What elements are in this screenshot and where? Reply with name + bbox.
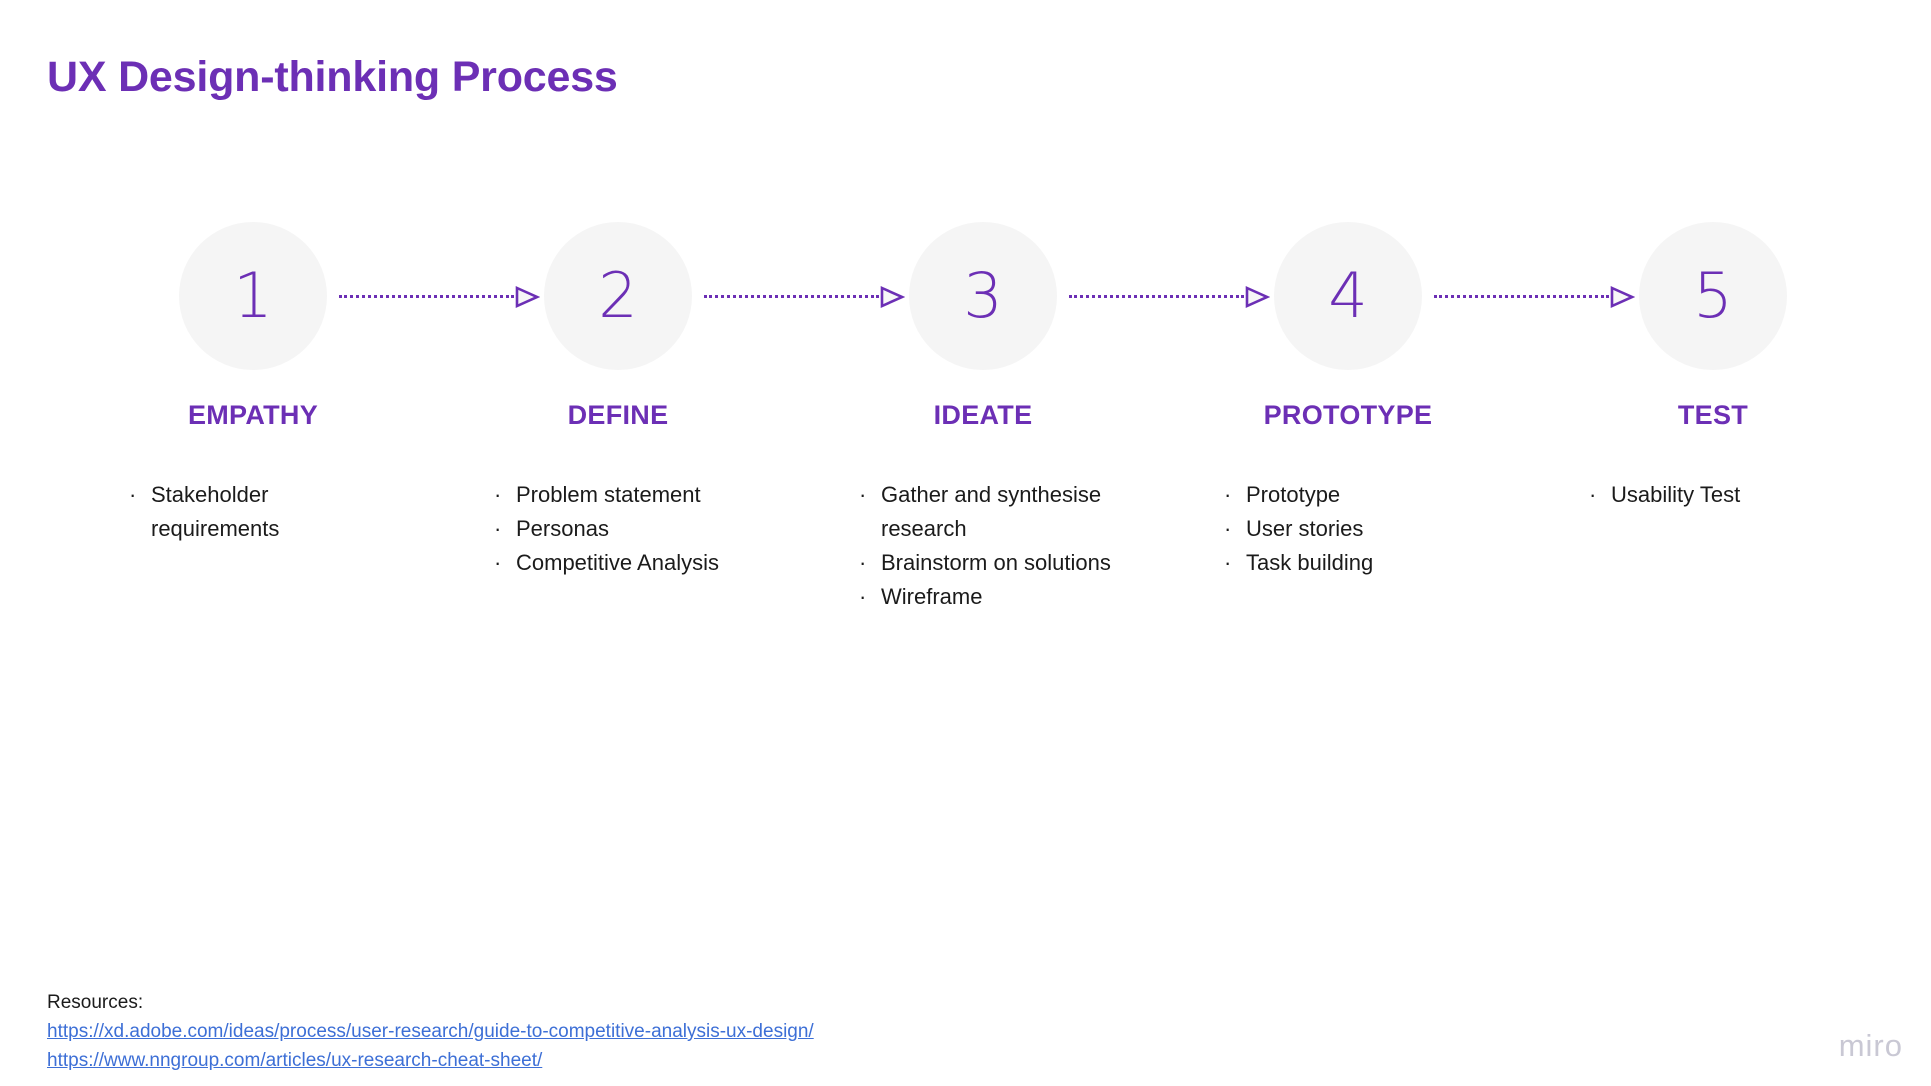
list-item: ·Stakeholder requirements xyxy=(129,478,389,546)
miro-watermark: miro xyxy=(1839,1028,1903,1064)
list-item-label: Prototype xyxy=(1246,478,1484,512)
step-circle-bg: 1 xyxy=(179,222,327,370)
step-label-define: DEFINE xyxy=(468,400,768,431)
bullet-list-test: ·Usability Test xyxy=(1589,478,1849,512)
step-circle-bg: 3 xyxy=(909,222,1057,370)
resources-block: Resources: https://xd.adobe.com/ideas/pr… xyxy=(47,988,814,1075)
resource-link-nngroup[interactable]: https://www.nngroup.com/articles/ux-rese… xyxy=(47,1046,814,1075)
step-circle-2[interactable]: 2 xyxy=(544,222,692,370)
step-number: 1 xyxy=(233,265,272,327)
connector-4-to-5 xyxy=(1434,286,1635,308)
list-item: ·Gather and synthesise research xyxy=(859,478,1119,546)
bullet-dot-icon: · xyxy=(494,478,516,512)
list-item: ·Brainstorm on solutions xyxy=(859,546,1119,580)
arrow-right-icon xyxy=(1609,286,1635,308)
bullet-dot-icon: · xyxy=(1224,478,1246,512)
arrow-right-icon xyxy=(514,286,540,308)
list-item: ·Task building xyxy=(1224,546,1484,580)
bullet-dot-icon: · xyxy=(494,512,516,546)
step-circle-bg: 2 xyxy=(544,222,692,370)
bullet-dot-icon: · xyxy=(494,546,516,580)
step-label-prototype: PROTOTYPE xyxy=(1198,400,1498,431)
step-circle-bg: 4 xyxy=(1274,222,1422,370)
list-item-label: Personas xyxy=(516,512,754,546)
list-item: ·Wireframe xyxy=(859,580,1119,614)
bullet-dot-icon: · xyxy=(1224,546,1246,580)
connector-3-to-4 xyxy=(1069,286,1270,308)
step-circle-4[interactable]: 4 xyxy=(1274,222,1422,370)
bullet-dot-icon: · xyxy=(859,546,881,580)
bullet-dot-icon: · xyxy=(859,580,881,614)
list-item-label: Wireframe xyxy=(881,580,1119,614)
step-label-empathy: EMPATHY xyxy=(103,400,403,431)
bullet-dot-icon: · xyxy=(1589,478,1611,512)
step-circle-5[interactable]: 5 xyxy=(1639,222,1787,370)
list-item: ·Problem statement xyxy=(494,478,754,512)
step-label-test: TEST xyxy=(1563,400,1863,431)
bullet-dot-icon: · xyxy=(859,478,881,512)
list-item: ·Prototype xyxy=(1224,478,1484,512)
step-circle-bg: 5 xyxy=(1639,222,1787,370)
dotted-line xyxy=(704,295,879,301)
dotted-line xyxy=(1434,295,1609,301)
page-title: UX Design-thinking Process xyxy=(47,53,618,102)
list-item-label: Gather and synthesise research xyxy=(881,478,1119,546)
arrow-right-icon xyxy=(1244,286,1270,308)
list-item: ·Personas xyxy=(494,512,754,546)
connector-1-to-2 xyxy=(339,286,540,308)
dotted-line xyxy=(1069,295,1244,301)
bullet-list-ideate: ·Gather and synthesise research·Brainsto… xyxy=(859,478,1119,614)
step-number: 3 xyxy=(963,265,1002,327)
step-number: 4 xyxy=(1328,265,1367,327)
step-number: 2 xyxy=(598,265,637,327)
bullet-list-define: ·Problem statement·Personas·Competitive … xyxy=(494,478,754,580)
step-label-ideate: IDEATE xyxy=(833,400,1133,431)
resource-link-adobe[interactable]: https://xd.adobe.com/ideas/process/user-… xyxy=(47,1017,814,1046)
dotted-line xyxy=(339,295,514,301)
step-circle-3[interactable]: 3 xyxy=(909,222,1057,370)
connector-2-to-3 xyxy=(704,286,905,308)
bullet-list-prototype: ·Prototype·User stories·Task building xyxy=(1224,478,1484,580)
step-number: 5 xyxy=(1693,265,1732,327)
list-item-label: User stories xyxy=(1246,512,1484,546)
list-item-label: Brainstorm on solutions xyxy=(881,546,1119,580)
bullet-list-empathy: ·Stakeholder requirements xyxy=(129,478,389,546)
list-item-label: Problem statement xyxy=(516,478,754,512)
list-item: ·Competitive Analysis xyxy=(494,546,754,580)
process-flow: 12345 xyxy=(0,222,1931,372)
list-item-label: Stakeholder requirements xyxy=(151,478,389,546)
list-item: ·Usability Test xyxy=(1589,478,1849,512)
resources-label: Resources: xyxy=(47,988,814,1017)
bullet-dot-icon: · xyxy=(1224,512,1246,546)
arrow-right-icon xyxy=(879,286,905,308)
list-item-label: Task building xyxy=(1246,546,1484,580)
list-item-label: Competitive Analysis xyxy=(516,546,754,580)
list-item: ·User stories xyxy=(1224,512,1484,546)
list-item-label: Usability Test xyxy=(1611,478,1849,512)
step-circle-1[interactable]: 1 xyxy=(179,222,327,370)
bullet-dot-icon: · xyxy=(129,478,151,512)
